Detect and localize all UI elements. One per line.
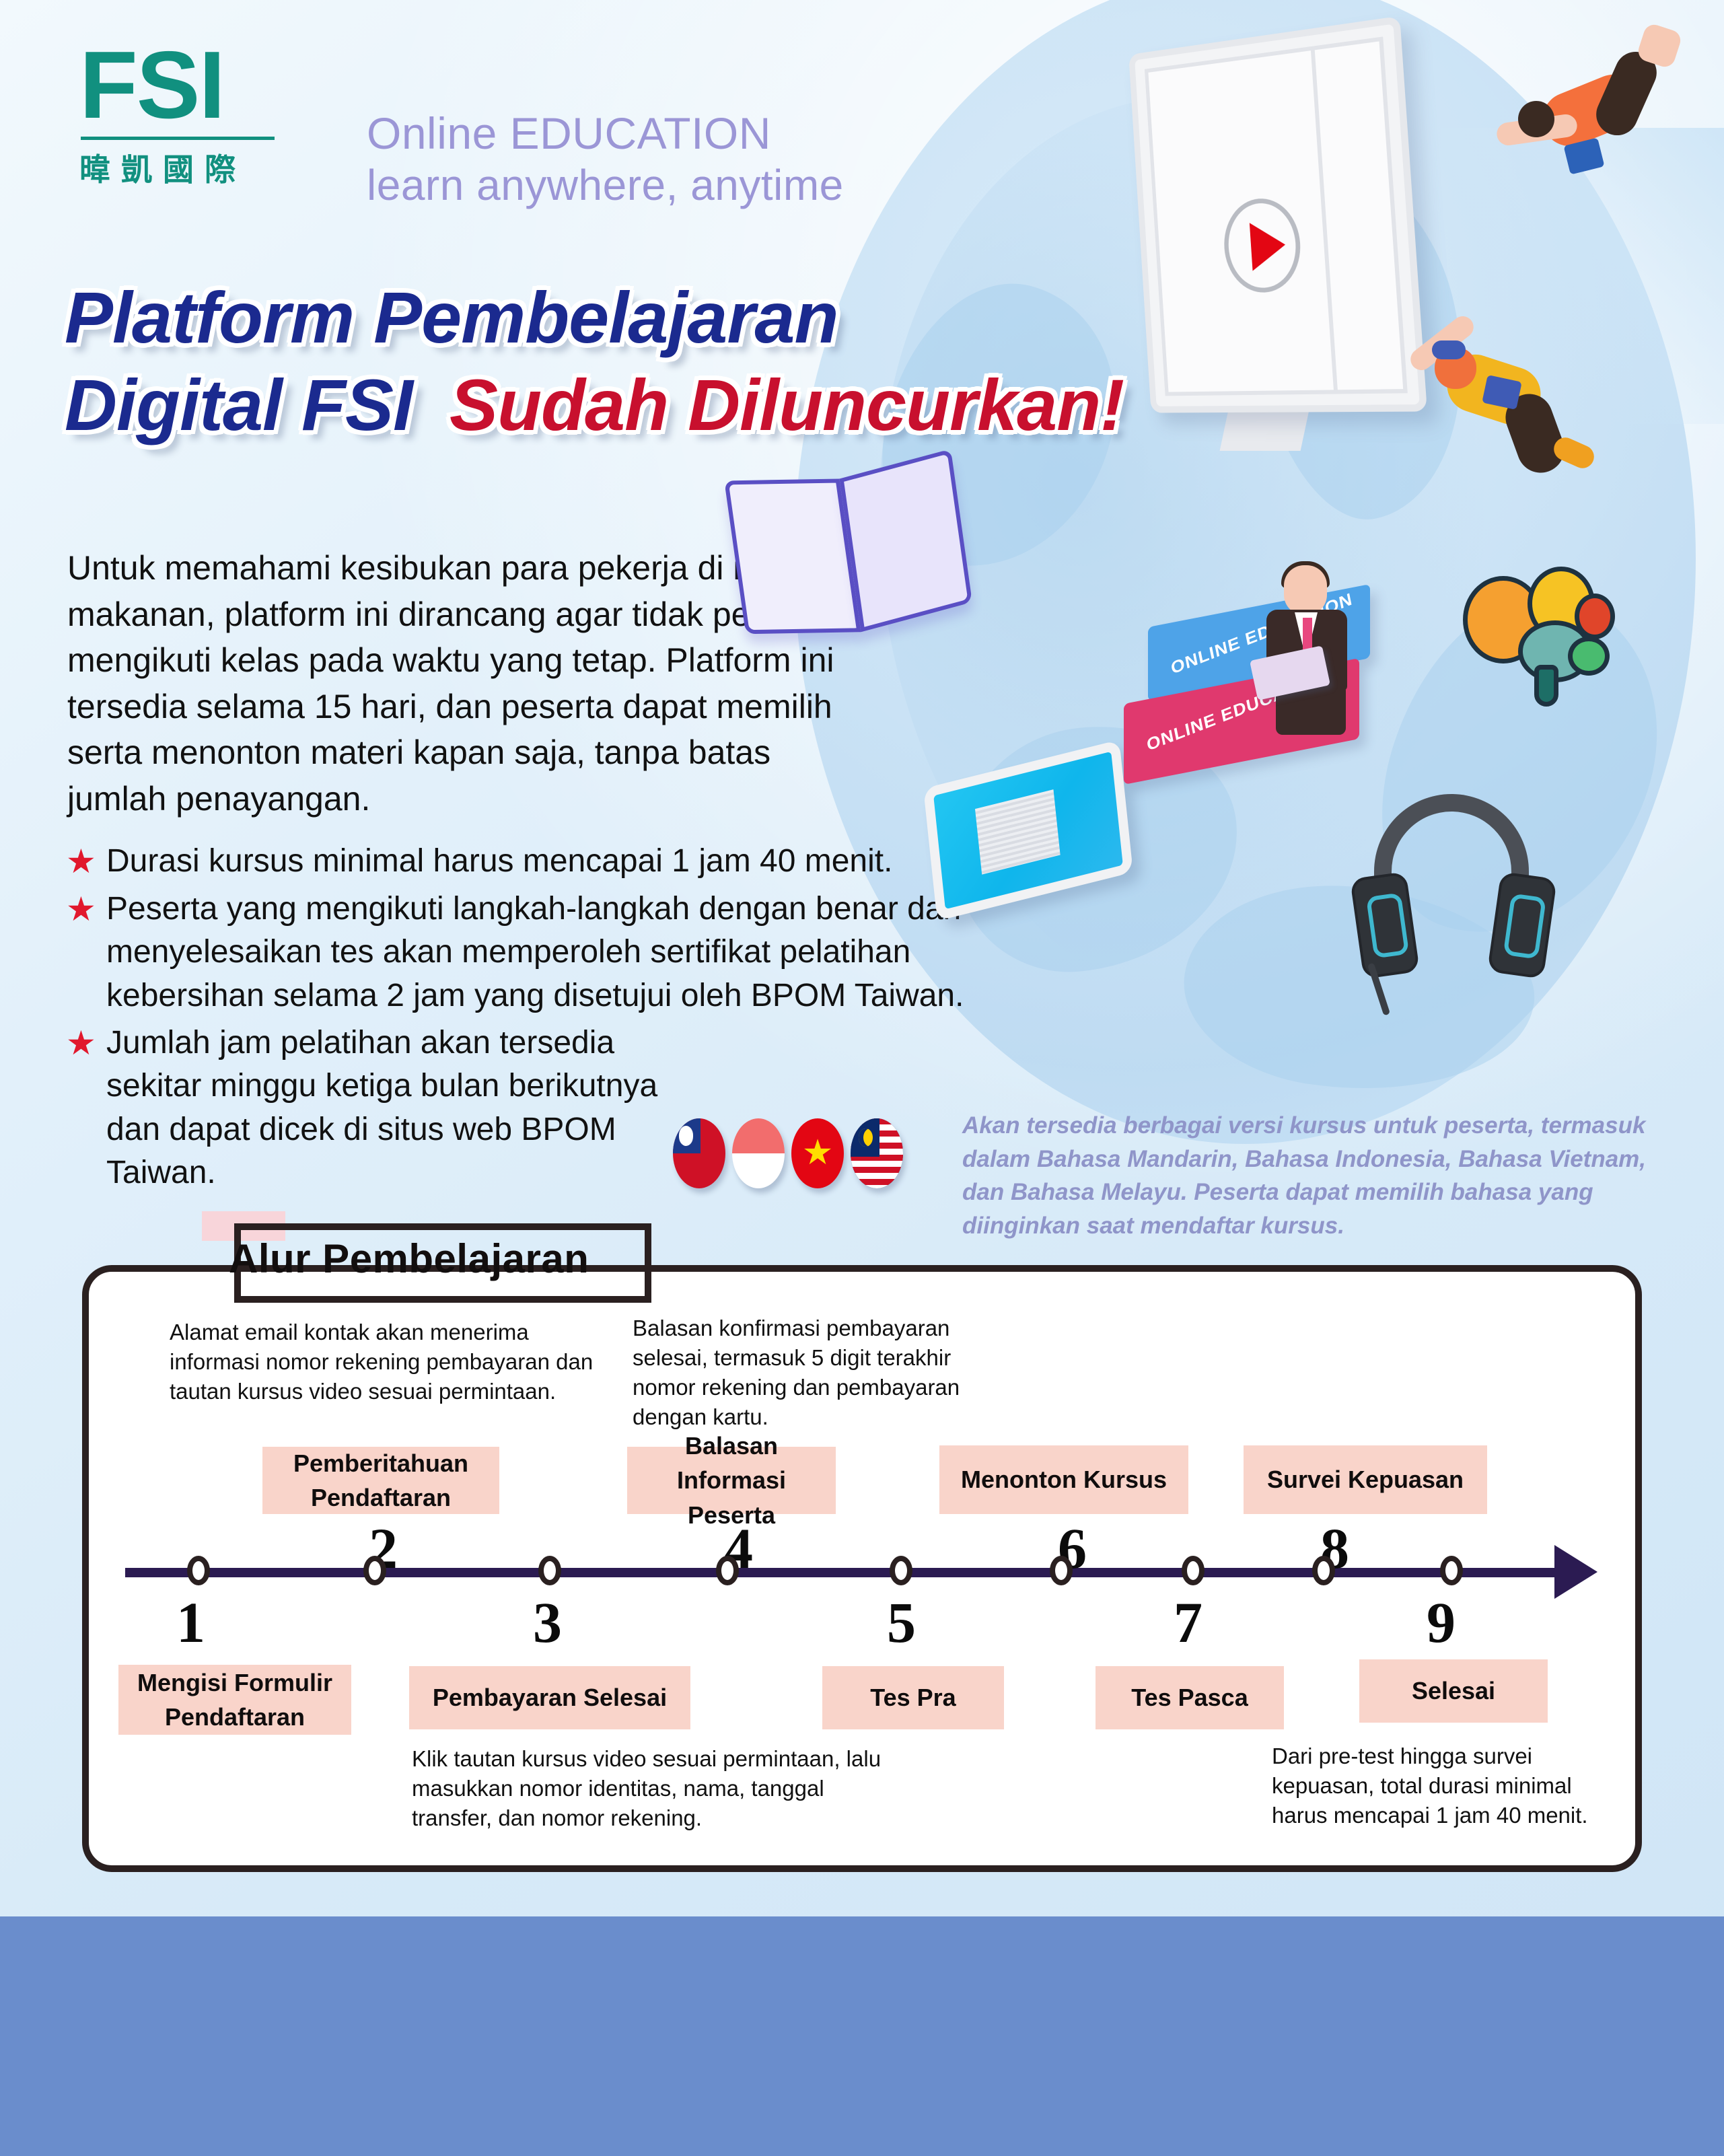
flow-step-number-7: 7 <box>1174 1593 1202 1651</box>
flow-description-bottom-left: Klik tautan kursus video sesuai perminta… <box>412 1744 896 1833</box>
timeline-dot-2 <box>363 1556 386 1585</box>
document-icon <box>975 789 1060 875</box>
star-icon: ★ <box>66 1021 104 1065</box>
flow-description-top-mid: Balasan konfirmasi pembayaran selesai, t… <box>633 1314 1009 1432</box>
flag-vietnam: ★ <box>791 1118 844 1188</box>
flag-star-icon: ★ <box>802 1135 834 1170</box>
timeline-dot-5 <box>890 1556 912 1585</box>
flow-step-number-1: 1 <box>176 1593 205 1651</box>
headline-line-2-navy: Digital FSI <box>65 364 412 445</box>
flow-step-label-6: Menonton Kursus <box>939 1445 1188 1514</box>
flow-step-number-3: 3 <box>533 1593 562 1651</box>
flow-step-label-9: Selesai <box>1359 1659 1548 1723</box>
brain-stem <box>1534 665 1558 707</box>
monitor-screen <box>1145 36 1408 396</box>
flow-title: Alur Pembelajaran <box>229 1235 589 1282</box>
floating-student-orange <box>1487 66 1702 268</box>
timeline-dot-8 <box>1312 1556 1335 1585</box>
flow-step-number-5: 5 <box>887 1593 916 1651</box>
earcup-ring <box>1366 892 1409 958</box>
logo-chinese-name: 暐凱國際 <box>79 145 275 190</box>
fsi-logo: FSI 暐凱國際 <box>79 42 275 190</box>
flow-step-label-3: Pembayaran Selesai <box>409 1666 690 1729</box>
earcup-ring <box>1503 893 1546 959</box>
timeline-dot-3 <box>538 1556 561 1585</box>
flow-step-label-8: Survei Kepuasan <box>1244 1445 1487 1514</box>
flag-sun-icon <box>679 1126 694 1145</box>
headset-illustration <box>1353 794 1554 996</box>
play-button-icon <box>1221 196 1303 295</box>
flow-step-label-7: Tes Pasca <box>1096 1666 1284 1729</box>
footer-band: FSI 報名方式: 1. 網路報名: 掃描QRcode【暐凱食安學院】 2. 報… <box>0 1916 1724 2156</box>
poster-root: ONLINE EDUCATION ONLINE EDUCATION <box>0 0 1724 2156</box>
timeline-dot-6 <box>1050 1556 1073 1585</box>
tagline-line2: learn anywhere, anytime <box>367 160 844 211</box>
flag-stripe-top <box>732 1118 785 1153</box>
bullet-text: Peserta yang mengikuti langkah-langkah d… <box>106 888 1048 1017</box>
book-page-right <box>839 449 972 632</box>
bullet-text: Jumlah jam pelatihan akan tersedia sekit… <box>106 1021 698 1194</box>
businessman-illustration <box>1249 565 1370 733</box>
logo-wordmark: FSI <box>79 42 275 130</box>
timeline-axis <box>125 1568 1573 1577</box>
bullet-text: Durasi kursus minimal harus mencapai 1 j… <box>106 840 892 883</box>
flag-crescent-icon <box>859 1128 872 1147</box>
monitor-illustration <box>1128 16 1427 413</box>
list-item: ★ Peserta yang mengikuti langkah-langkah… <box>66 888 1048 1017</box>
brain-lobe <box>1575 594 1615 639</box>
screen-divider <box>1311 50 1338 390</box>
star-icon: ★ <box>66 888 104 931</box>
brain-lobe <box>1568 637 1610 676</box>
flow-step-label-2: Pemberitahuan Pendaftaran <box>262 1447 499 1514</box>
flag-indonesia <box>732 1118 785 1188</box>
flag-taiwan <box>673 1118 725 1188</box>
language-note: Akan tersedia berbagai versi kursus untu… <box>962 1109 1689 1243</box>
flow-step-label-1: Mengisi Formulir Pendaftaran <box>118 1665 351 1735</box>
timeline-dot-7 <box>1182 1556 1205 1585</box>
tagline: Online EDUCATION learn anywhere, anytime <box>367 108 844 211</box>
flag-malaysia <box>851 1118 903 1188</box>
book-page-left <box>724 478 861 634</box>
list-item: ★ Durasi kursus minimal harus mencapai 1… <box>66 840 1048 884</box>
flow-description-top-left: Alamat email kontak akan menerima inform… <box>170 1318 614 1406</box>
timeline-arrow-icon <box>1554 1545 1597 1599</box>
flow-step-number-9: 9 <box>1427 1593 1456 1651</box>
timeline-dot-1 <box>187 1556 210 1585</box>
timeline-dot-4 <box>716 1556 739 1585</box>
tagline-line1: Online EDUCATION <box>367 108 844 160</box>
flow-description-bottom-right: Dari pre-test hingga survei kepuasan, to… <box>1272 1741 1622 1830</box>
flow-step-label-4: Balasan Informasi Peserta <box>627 1447 836 1514</box>
star-icon: ★ <box>66 840 104 884</box>
headline-line-2-red: Sudah Diluncurkan! <box>450 364 1124 445</box>
open-book-illustration <box>725 456 974 641</box>
timeline-dot-9 <box>1440 1556 1463 1585</box>
brain-illustration <box>1463 564 1618 698</box>
language-flags: ★ <box>673 1118 903 1188</box>
floating-student-yellow <box>1400 323 1615 525</box>
head <box>1284 565 1327 615</box>
flow-step-label-5: Tes Pra <box>822 1666 1004 1729</box>
